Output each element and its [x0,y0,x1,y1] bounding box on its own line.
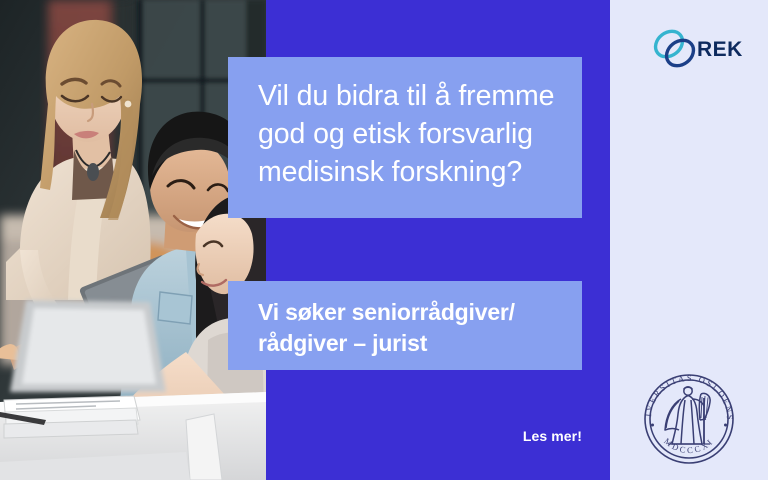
subheadline-line-1: Vi søker seniorrådgiver/ [258,297,556,328]
recruitment-banner: Vil du bidra til å fremme god og etisk f… [0,0,768,480]
team-photo [0,0,266,480]
headline-box: Vil du bidra til å fremme god og etisk f… [228,57,582,218]
rek-wordmark: REK [697,38,742,61]
subheadline-box: Vi søker seniorrådgiver/ rådgiver – juri… [228,281,582,370]
uio-seal: UNIVERSITAS OSLOENSIS MDCCCXI [638,368,740,470]
headline-line-2: god og etisk forsvarlig [258,115,556,153]
headline-line-1: Vil du bidra til å fremme [258,77,556,115]
rek-rings-icon [650,26,698,70]
subheadline-line-2: rådgiver – jurist [258,328,556,359]
rek-logo[interactable]: REK [650,26,742,70]
read-more-link[interactable]: Les mer! [470,428,582,444]
photo-panel [0,0,266,480]
headline-line-3: medisinsk forskning? [258,153,556,191]
